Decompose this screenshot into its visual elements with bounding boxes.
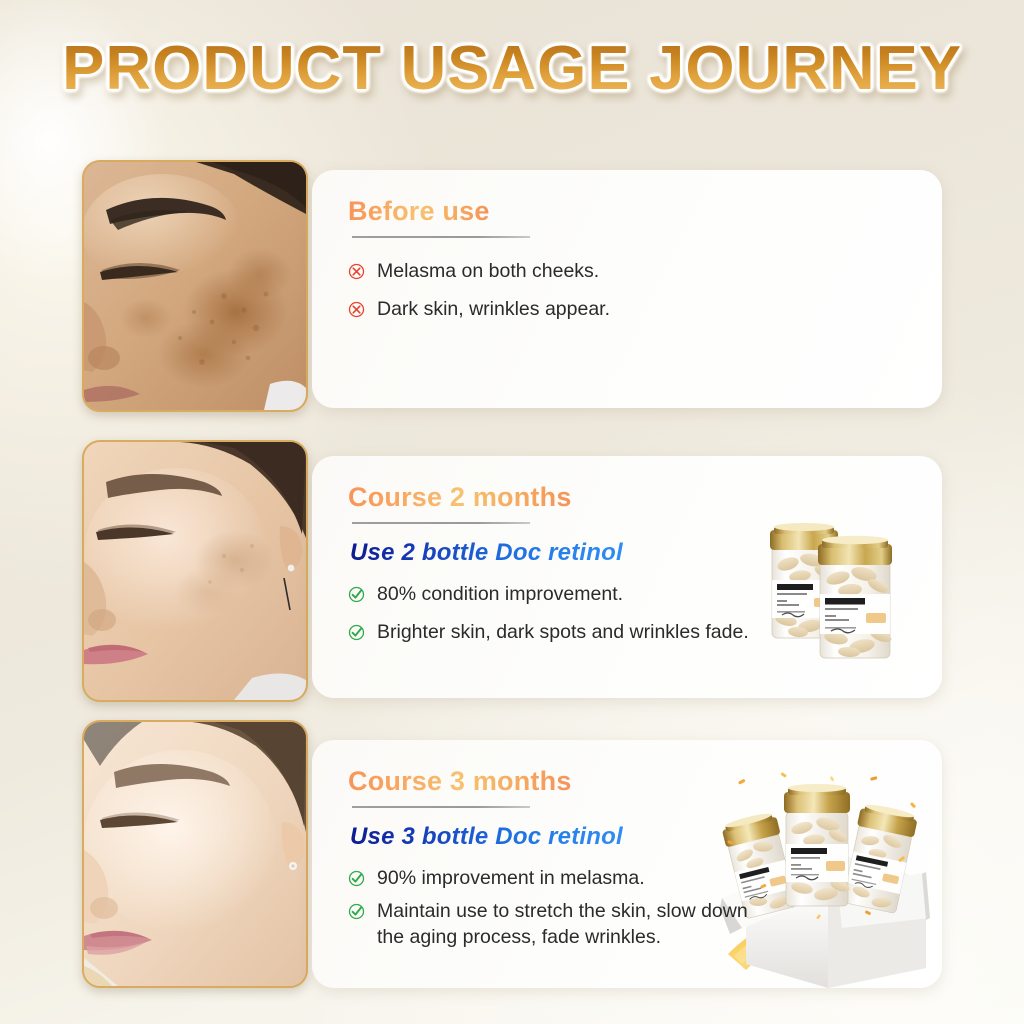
stage-card-course-3-months: Course 3 months Use 3 bottle Doc retinol… [312, 740, 942, 988]
list-item-text: Melasma on both cheeks. [377, 260, 599, 282]
stage-subheading: Use 3 bottle Doc retinol [350, 823, 623, 851]
list-item: Dark skin, wrinkles appear. [348, 296, 912, 322]
after-3-months-skin-photo [84, 722, 306, 986]
page-title: PRODUCT USAGE JOURNEY [0, 38, 1024, 100]
circled-check-icon [348, 901, 365, 918]
after-2-months-skin-photo [84, 442, 306, 700]
page-title-text: PRODUCT USAGE JOURNEY [62, 38, 962, 100]
stage-photo-course-3-months [82, 720, 308, 988]
stage-photo-course-2-months [82, 440, 308, 702]
list-item: 90% improvement in melasma. [348, 865, 912, 891]
heading-rule [352, 522, 530, 524]
stage-heading: Before use [348, 196, 490, 227]
list-item-text: Maintain use to stretch the skin, slow d… [377, 900, 748, 948]
stage-bullet-list: 90% improvement in melasma. Maintain use… [348, 865, 912, 950]
before-skin-photo [84, 162, 306, 410]
heading-rule [352, 806, 530, 808]
list-item: Maintain use to stretch the skin, slow d… [348, 898, 768, 950]
stage-subheading: Use 2 bottle Doc retinol [350, 539, 623, 567]
list-item-text: 90% improvement in melasma. [377, 867, 645, 889]
stage-bullet-list: 80% condition improvement. Brighter skin… [348, 581, 912, 645]
list-item: Brighter skin, dark spots and wrinkles f… [348, 619, 912, 645]
stage-card-before-use: Before use Melasma on both cheeks. [312, 170, 942, 408]
heading-rule [352, 236, 530, 238]
stage-heading: Course 2 months [348, 482, 572, 513]
circled-x-icon [348, 299, 365, 316]
list-item-text: Dark skin, wrinkles appear. [377, 298, 610, 320]
circled-check-icon [348, 622, 365, 639]
circled-check-icon [348, 868, 365, 885]
stage-heading: Course 3 months [348, 766, 572, 797]
circled-check-icon [348, 584, 365, 601]
stage-bullet-list: Melasma on both cheeks. Dark skin, wrink… [348, 258, 912, 322]
stage-photo-before-use [82, 160, 308, 412]
circled-x-icon [348, 261, 365, 278]
stage-row-course-2-months: Course 2 months Use 2 bottle Doc retinol… [0, 440, 1024, 705]
list-item-text: 80% condition improvement. [377, 583, 623, 605]
list-item-text: Brighter skin, dark spots and wrinkles f… [377, 621, 749, 643]
list-item: 80% condition improvement. [348, 581, 912, 607]
stage-card-course-2-months: Course 2 months Use 2 bottle Doc retinol… [312, 456, 942, 698]
stage-row-before-use: Before use Melasma on both cheeks. [0, 160, 1024, 410]
stage-row-course-3-months: Course 3 months Use 3 bottle Doc retinol… [0, 720, 1024, 992]
list-item: Melasma on both cheeks. [348, 258, 912, 284]
